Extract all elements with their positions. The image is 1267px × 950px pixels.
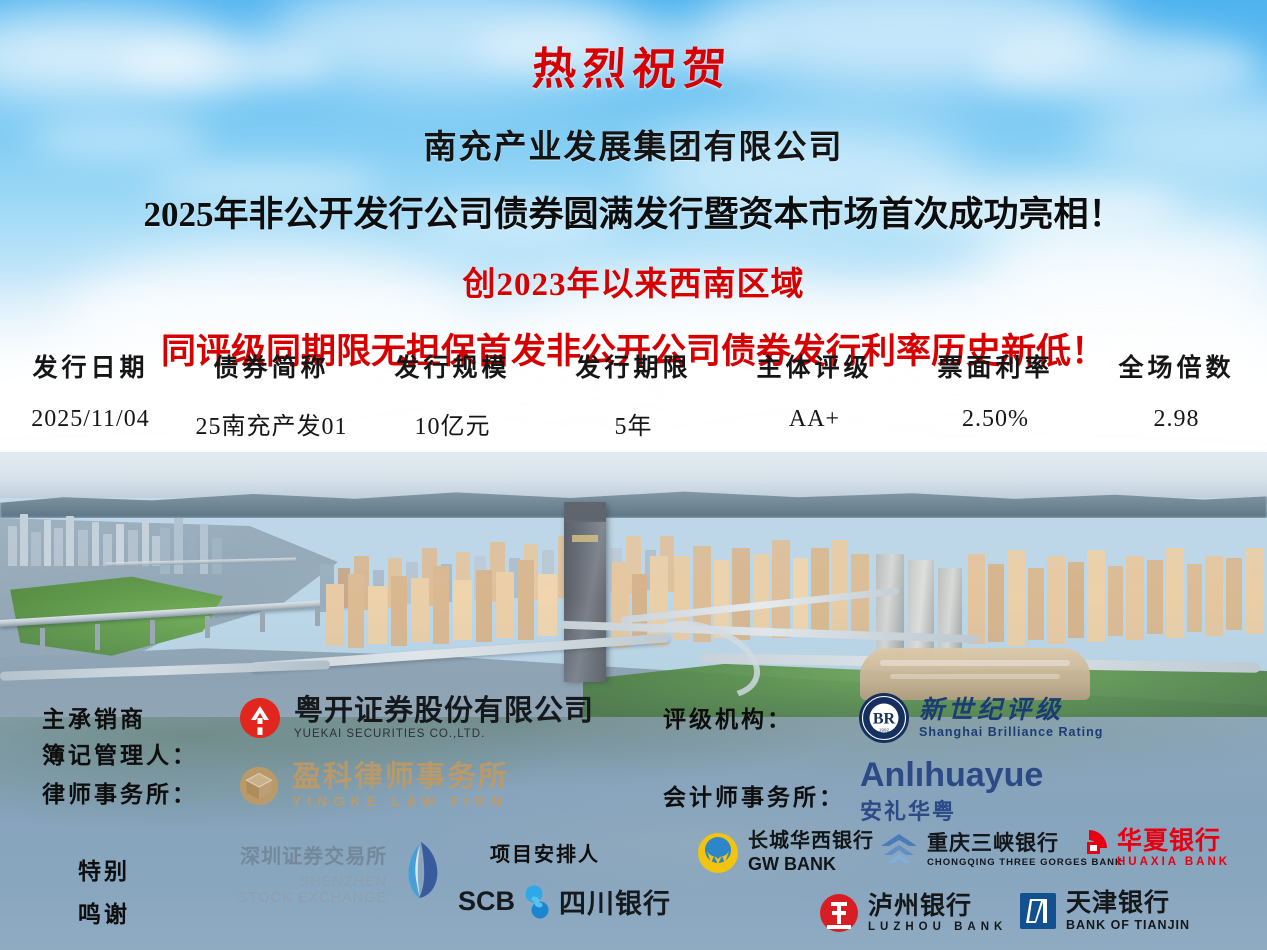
logo-huaxia-bank: 华夏银行 HUAXIA BANK xyxy=(1069,828,1230,868)
bond-summary-table: 发行日期 债券简称 发行规模 发行期限 主体评级 票面利率 全场倍数 2025/… xyxy=(0,340,1267,441)
luzhou-icon xyxy=(818,892,860,934)
td-subscription: 2.98 xyxy=(1086,384,1267,441)
szse-name-cn: 深圳证券交易所 xyxy=(238,846,387,869)
company-name: 南充产业发展集团有限公司 xyxy=(0,120,1267,168)
th-issuer-rating: 主体评级 xyxy=(724,340,905,384)
sichuan-name-cn: 四川银行 xyxy=(559,882,671,921)
yuekai-name-cn: 粤开证券股份有限公司 xyxy=(294,696,594,726)
th-subscription: 全场倍数 xyxy=(1086,340,1267,384)
brilliance-icon: BR 1992 xyxy=(858,692,910,744)
logo-shanghai-brilliance-rating: BR 1992 新世纪评级 Shanghai Brilliance Rating xyxy=(858,692,1103,744)
td-issue-date: 2025/11/04 xyxy=(0,384,181,441)
underwriter-label-line1: 主承销商 xyxy=(42,700,146,734)
logo-luzhou-bank: 泸州银行 LUZHOU BANK xyxy=(818,892,1007,934)
huaxia-name-en: HUAXIA BANK xyxy=(1117,856,1230,868)
cqtgb-icon xyxy=(878,832,920,868)
gwbank-icon xyxy=(696,831,740,875)
sichuan-abbr: SCB xyxy=(458,886,515,917)
th-bond-name: 债券简称 xyxy=(181,340,362,384)
congrats-title: 热烈祝贺 xyxy=(0,0,1267,92)
brilliance-name-en: Shanghai Brilliance Rating xyxy=(919,725,1103,739)
yuekai-name-en: YUEKAI SECURITIES CO.,LTD. xyxy=(294,728,594,740)
gwbank-name-en: GW BANK xyxy=(748,854,874,875)
table-row: 2025/11/04 25南充产发01 10亿元 5年 AA+ 2.50% 2.… xyxy=(0,384,1267,441)
special-thanks-label-line2: 鸣谢 xyxy=(78,895,130,929)
logo-anlihuayue: Anlıhuayue 安礼华粤 xyxy=(860,758,1043,826)
brilliance-monogram: BR xyxy=(873,711,896,728)
gwbank-name-cn: 长城华西银行 xyxy=(748,830,874,852)
huaxia-name-cn: 华夏银行 xyxy=(1117,828,1230,855)
logo-gw-bank: 长城华西银行 GW BANK xyxy=(696,830,874,875)
th-issue-date: 发行日期 xyxy=(0,340,181,384)
th-tenor: 发行期限 xyxy=(543,340,724,384)
underwriter-label-line2: 簿记管理人： xyxy=(42,736,198,770)
logo-sichuan-bank: SCB 四川银行 xyxy=(458,882,671,921)
law-firm-label: 律师事务所： xyxy=(42,775,198,809)
table-header-row: 发行日期 债券简称 发行规模 发行期限 主体评级 票面利率 全场倍数 xyxy=(0,340,1267,384)
yingke-name-en: YINGKE LAW FIRM xyxy=(292,793,509,809)
td-issue-size: 10亿元 xyxy=(362,384,543,441)
arranger-label: 项目安排人 xyxy=(490,838,600,867)
issuance-headline: 2025年非公开发行公司债券圆满发行暨资本市场首次成功亮相！ xyxy=(0,186,1267,237)
szse-name-en1: SHENZHEN xyxy=(238,874,387,890)
th-coupon-rate: 票面利率 xyxy=(905,340,1086,384)
logo-bank-of-tianjin: 天津银行 BANK OF TIANJIN xyxy=(1018,890,1190,932)
td-bond-name: 25南充产发01 xyxy=(181,384,362,441)
szse-name-en2: STOCK EXCHANGE xyxy=(238,890,387,906)
logo-yuekai-securities: 粤开证券股份有限公司 YUEKAI SECURITIES CO.,LTD. xyxy=(236,694,594,742)
luzhou-name-cn: 泸州银行 xyxy=(868,893,1007,920)
city-aerial-photo xyxy=(0,452,1267,717)
headline-block: 热烈祝贺 南充产业发展集团有限公司 2025年非公开发行公司债券圆满发行暨资本市… xyxy=(0,0,1267,330)
td-issuer-rating: AA+ xyxy=(724,384,905,441)
tianjin-icon xyxy=(1018,891,1058,931)
anlihuayue-name-cn: 安礼华粤 xyxy=(860,794,1043,826)
szse-icon xyxy=(393,840,443,900)
brilliance-name-cn: 新世纪评级 xyxy=(919,697,1103,723)
yingke-name-cn: 盈科律师事务所 xyxy=(292,762,509,792)
tianjin-name-en: BANK OF TIANJIN xyxy=(1066,918,1190,932)
brilliance-year: 1992 xyxy=(879,728,890,733)
th-issue-size: 发行规模 xyxy=(362,340,543,384)
rating-agency-label: 评级机构： xyxy=(663,700,793,734)
td-coupon-rate: 2.50% xyxy=(905,384,1086,441)
special-thanks-label-line1: 特别 xyxy=(78,852,130,886)
tianjin-name-cn: 天津银行 xyxy=(1066,890,1190,917)
yingke-icon xyxy=(236,763,282,809)
sichuan-icon xyxy=(520,883,554,921)
luzhou-name-en: LUZHOU BANK xyxy=(868,921,1007,933)
logo-yingke-law-firm: 盈科律师事务所 YINGKE LAW FIRM xyxy=(236,762,509,809)
congratulation-poster: 热烈祝贺 南充产业发展集团有限公司 2025年非公开发行公司债券圆满发行暨资本市… xyxy=(0,0,1267,950)
anlihuayue-name-en: Anlıhuayue xyxy=(860,758,1043,792)
huaxia-icon xyxy=(1069,828,1109,868)
logo-shenzhen-stock-exchange: 深圳证券交易所 SHENZHEN STOCK EXCHANGE xyxy=(238,846,443,906)
td-tenor: 5年 xyxy=(543,384,724,441)
accounting-firm-label: 会计师事务所： xyxy=(663,778,845,812)
yuekai-icon xyxy=(236,694,284,742)
record-headline-1: 创2023年以来西南区域 xyxy=(0,257,1267,305)
